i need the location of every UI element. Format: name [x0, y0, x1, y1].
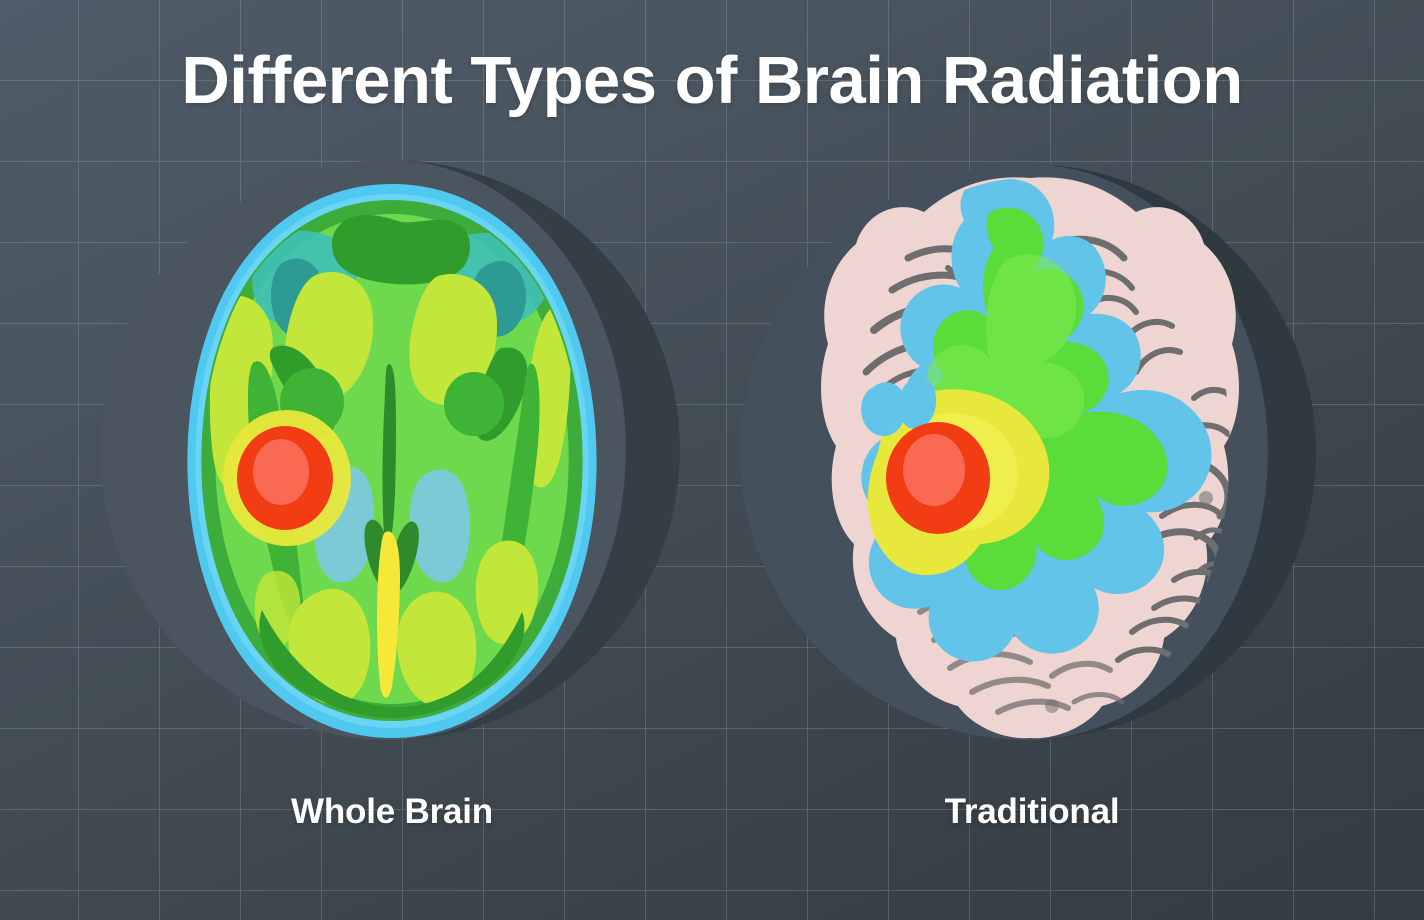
caption-whole-brain: Whole Brain — [82, 792, 702, 832]
tumor-core — [253, 439, 309, 505]
panel-traditional: Traditional — [722, 140, 1342, 900]
tumor-hotspot — [223, 410, 351, 546]
tumor-core — [903, 434, 965, 506]
page-title: Different Types of Brain Radiation — [0, 47, 1424, 114]
traditional-scan — [722, 140, 1342, 760]
whole-brain-scan — [82, 140, 702, 760]
illustration-canvas: Different Types of Brain Radiation — [0, 0, 1424, 920]
basal-ganglia-right — [444, 372, 504, 436]
tumor-hotspot — [886, 422, 990, 534]
panel-whole-brain: Whole Brain — [82, 140, 702, 900]
caption-traditional: Traditional — [722, 792, 1342, 832]
